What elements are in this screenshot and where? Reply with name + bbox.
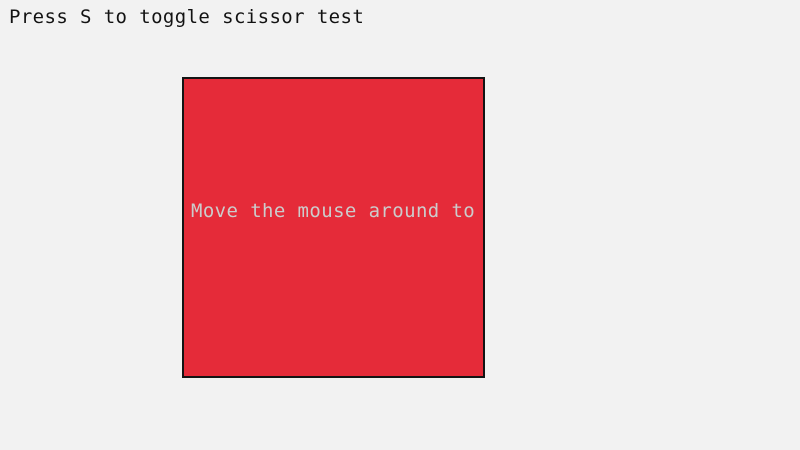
app-canvas: Press S to toggle scissor test Move the … bbox=[0, 0, 800, 450]
scissor-test-rectangle[interactable]: Move the mouse around to r bbox=[182, 77, 485, 378]
clipped-instruction-text: Move the mouse around to r bbox=[191, 199, 483, 223]
scissor-clip-region: Move the mouse around to r bbox=[184, 79, 483, 376]
scissor-toggle-hint: Press S to toggle scissor test bbox=[9, 5, 364, 29]
